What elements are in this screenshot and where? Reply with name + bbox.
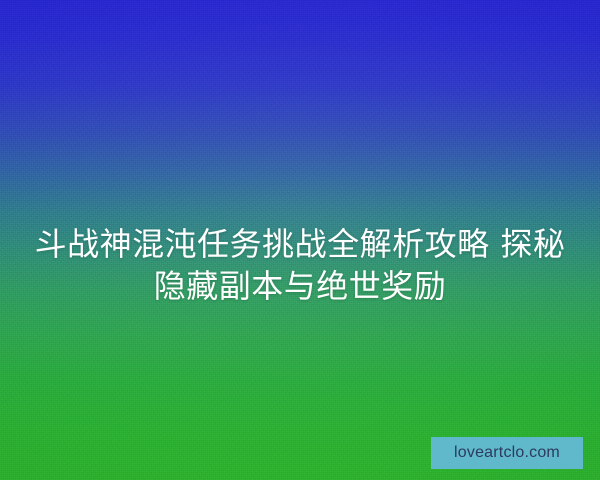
watermark-label: loveartclo.com — [454, 445, 560, 461]
banner-headline: 斗战神混沌任务挑战全解析攻略 探秘隐藏副本与绝世奖励 — [0, 223, 600, 307]
banner-image: 斗战神混沌任务挑战全解析攻略 探秘隐藏副本与绝世奖励 loveartclo.co… — [0, 0, 600, 480]
watermark-badge: loveartclo.com — [431, 437, 583, 469]
